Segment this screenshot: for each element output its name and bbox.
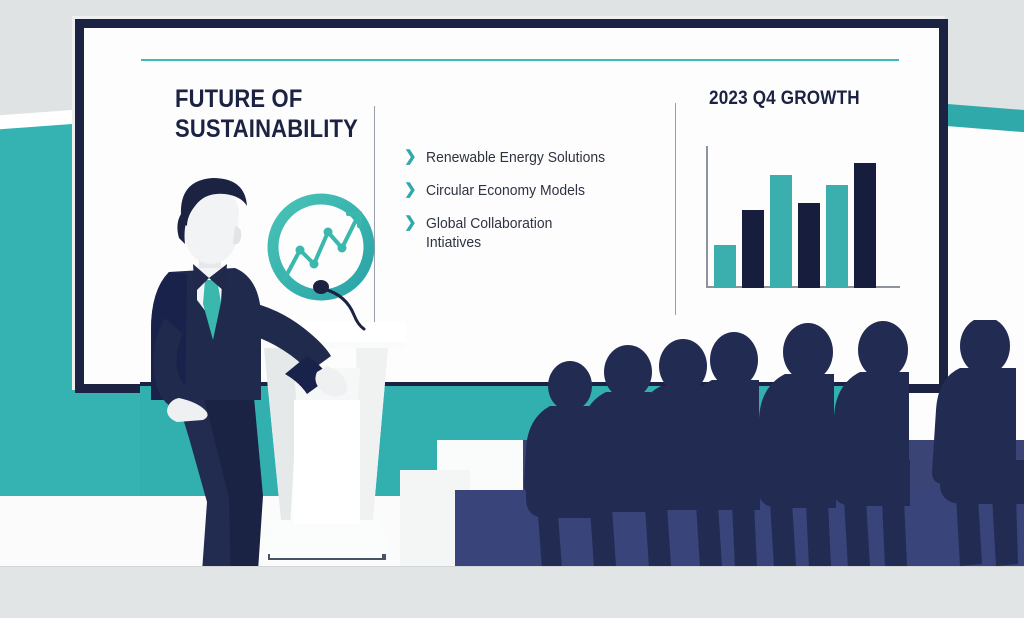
list-item: ❯ Renewable Energy Solutions: [404, 148, 654, 167]
bullet-label: Circular Economy Models: [426, 181, 585, 200]
slide-title: FUTURE OF SUSTAINABILITY: [175, 84, 364, 144]
lectern-base: [270, 520, 382, 558]
bar-chart: [706, 138, 906, 298]
floor-horizon-line: [0, 566, 1024, 567]
gooseneck-microphone: [300, 275, 390, 335]
slide-accent-rule: [141, 59, 899, 61]
chart-bar: [798, 203, 820, 288]
slide-title-line-2: SUSTAINABILITY: [175, 114, 364, 144]
chart-bar: [742, 210, 764, 288]
stage-floor: [0, 566, 1024, 618]
chart-y-axis: [706, 146, 708, 286]
list-item: ❯ Circular Economy Models: [404, 181, 654, 200]
bullet-label: Global Collaboration Intiatives: [426, 214, 552, 252]
chevron-right-icon: ❯: [404, 148, 417, 166]
chart-bar: [714, 245, 736, 288]
chart-bar: [770, 175, 792, 288]
bullet-label: Renewable Energy Solutions: [426, 148, 605, 167]
slide-title-line-1: FUTURE OF: [175, 84, 364, 114]
chart-bar: [854, 163, 876, 288]
chart-title: 2023 Q4 GROWTH: [709, 88, 860, 110]
slide-divider-right: [675, 103, 676, 315]
illustration-canvas: FUTURE OF SUSTAINABILITY: [0, 0, 1024, 618]
slide-bullet-list: ❯ Renewable Energy Solutions ❯ Circular …: [404, 148, 654, 266]
list-item: ❯ Global Collaboration Intiatives: [404, 214, 654, 252]
chart-bar: [826, 185, 848, 288]
seated-audience: [440, 320, 1024, 580]
lectern-column: [294, 400, 360, 524]
